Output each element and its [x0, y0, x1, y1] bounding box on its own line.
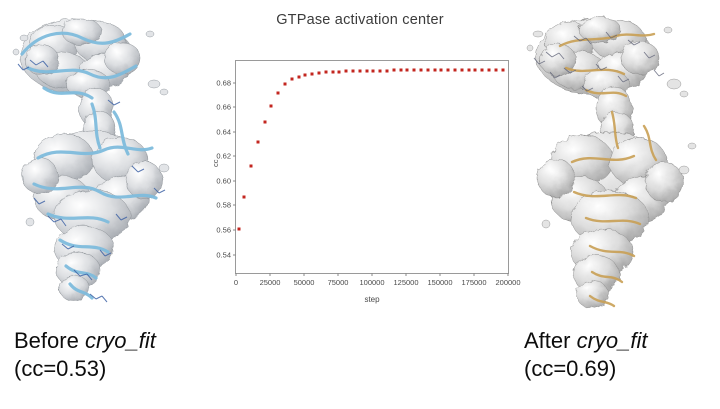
data-point [290, 78, 293, 81]
y-tick-label: 0.56 [216, 225, 236, 234]
caption-before: Before cryo_fit (cc=0.53) [14, 327, 156, 383]
x-tick-label: 50000 [294, 273, 315, 287]
data-point [304, 73, 307, 76]
data-point [263, 121, 266, 124]
data-point [237, 228, 240, 231]
data-point [413, 69, 416, 72]
data-point [297, 75, 300, 78]
x-tick-label: 100000 [359, 273, 384, 287]
data-point [501, 68, 504, 71]
x-axis-label: step [235, 295, 509, 304]
data-point [460, 68, 463, 71]
data-point [324, 71, 327, 74]
cryo-em-density-before [4, 8, 200, 320]
data-point [317, 71, 320, 74]
x-tick-label: 0 [234, 273, 238, 287]
caption-before-italic: cryo_fit [85, 328, 156, 353]
data-point [283, 82, 286, 85]
data-point [385, 69, 388, 72]
data-point [351, 70, 354, 73]
data-point [392, 69, 395, 72]
y-tick-label: 0.58 [216, 201, 236, 210]
chart-title: GTPase activation center [205, 12, 515, 28]
data-point [379, 69, 382, 72]
data-point [453, 68, 456, 71]
data-point [331, 71, 334, 74]
density-surface [20, 19, 162, 301]
caption-before-line1: Before cryo_fit [14, 327, 156, 355]
data-point [338, 70, 341, 73]
cc-convergence-chart: GTPase activation center cc 0.540.560.58… [205, 12, 515, 302]
x-tick-label: 75000 [328, 273, 349, 287]
data-point [358, 70, 361, 73]
caption-after-line1: After cryo_fit [524, 327, 648, 355]
x-tick-label: 150000 [427, 273, 452, 287]
plot-area: 0.540.560.580.600.620.640.660.6802500050… [236, 61, 508, 273]
data-point [426, 69, 429, 72]
data-point [372, 69, 375, 72]
data-point [249, 165, 252, 168]
caption-after-line2: (cc=0.69) [524, 355, 648, 383]
data-point [481, 68, 484, 71]
plot-frame: 0.540.560.580.600.620.640.660.6802500050… [235, 60, 509, 274]
y-tick-label: 0.62 [216, 152, 236, 161]
caption-after-italic: cryo_fit [577, 328, 648, 353]
data-point [467, 68, 470, 71]
x-tick-label: 125000 [393, 273, 418, 287]
caption-before-prefix: Before [14, 328, 85, 353]
y-tick-label: 0.54 [216, 250, 236, 259]
data-point [440, 69, 443, 72]
data-point [311, 72, 314, 75]
y-tick-label: 0.64 [216, 127, 236, 136]
data-point [399, 69, 402, 72]
x-tick-label: 25000 [260, 273, 281, 287]
data-point [406, 69, 409, 72]
density-surface [536, 17, 683, 308]
y-tick-label: 0.66 [216, 103, 236, 112]
data-point [494, 68, 497, 71]
data-point [365, 69, 368, 72]
y-tick-label: 0.68 [216, 78, 236, 87]
cryo-em-density-after [516, 6, 716, 322]
caption-before-line2: (cc=0.53) [14, 355, 156, 383]
data-point [256, 140, 259, 143]
figure-canvas: GTPase activation center cc 0.540.560.58… [0, 0, 720, 409]
data-point [277, 91, 280, 94]
data-point [270, 105, 273, 108]
y-tick-label: 0.60 [216, 176, 236, 185]
x-tick-label: 175000 [461, 273, 486, 287]
data-point [243, 196, 246, 199]
caption-after: After cryo_fit (cc=0.69) [524, 327, 648, 383]
data-point [433, 69, 436, 72]
caption-after-prefix: After [524, 328, 577, 353]
data-point [447, 69, 450, 72]
data-point [419, 69, 422, 72]
data-point [474, 68, 477, 71]
data-point [345, 70, 348, 73]
data-point [487, 68, 490, 71]
